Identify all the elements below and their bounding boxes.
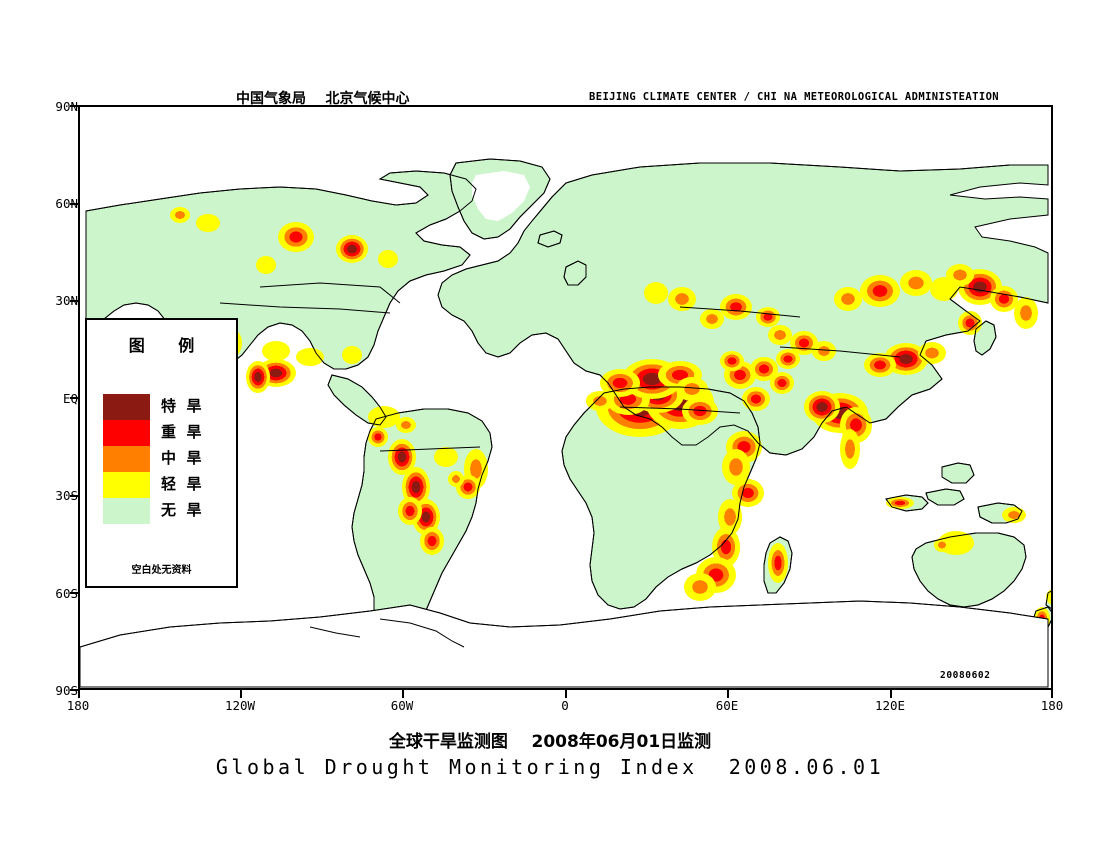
- x-tick-60w: 60W: [367, 698, 437, 713]
- x-tickmark-180e: [1051, 690, 1053, 698]
- agency-header-english: BEIJING CLIMATE CENTER / CHI NA METEOROL…: [589, 91, 999, 103]
- figure-title-chinese: 全球干旱监测图 2008年06月01日监测: [0, 727, 1100, 752]
- x-tick-120w: 120W: [205, 698, 275, 713]
- figure-title-english: Global Drought Monitoring Index 2008.06.…: [0, 755, 1100, 779]
- x-tickmark-120w: [240, 690, 242, 698]
- legend-no-data-note: 空白处无资料: [87, 561, 236, 576]
- legend-swatch-mild-drought: [103, 472, 150, 498]
- x-tick-0: 0: [530, 698, 600, 713]
- y-tickmark-90n: [70, 105, 78, 107]
- y-axis: 90N 60N 30N EQ 30S 60S 90S: [0, 0, 78, 850]
- legend-label-extreme-drought: 特 旱: [161, 395, 201, 416]
- x-tick-60e: 60E: [692, 698, 762, 713]
- x-tickmark-180w: [78, 690, 80, 698]
- y-tickmark-30s: [70, 495, 78, 497]
- legend-label-no-drought: 无 旱: [161, 499, 201, 520]
- y-tickmark-eq: [70, 397, 78, 399]
- legend-label-mild-drought: 轻 旱: [161, 473, 201, 494]
- legend-swatch-no-drought: [103, 498, 150, 524]
- drought-map-figure: 中国气象局 北京气候中心 BEIJING CLIMATE CENTER / CH…: [0, 0, 1100, 850]
- x-tickmark-0: [565, 690, 567, 698]
- legend-swatch-severe-drought: [103, 420, 150, 446]
- legend-box: 图 例 特 旱 重 旱 中 旱 轻 旱 无 旱 空白处无资料: [85, 318, 238, 588]
- legend-label-severe-drought: 重 旱: [161, 421, 201, 442]
- legend-swatch-extreme-drought: [103, 394, 150, 420]
- legend-row-severe-drought: 重 旱: [103, 420, 225, 446]
- y-tickmark-90s: [70, 689, 78, 691]
- legend-row-mild-drought: 轻 旱: [103, 472, 225, 498]
- x-tickmark-120e: [890, 690, 892, 698]
- legend-row-extreme-drought: 特 旱: [103, 394, 225, 420]
- legend-row-moderate-drought: 中 旱: [103, 446, 225, 472]
- y-tickmark-60s: [70, 592, 78, 594]
- x-axis: 180 120W 60W 0 60E 120E 180: [0, 698, 1100, 722]
- x-tickmark-60w: [402, 690, 404, 698]
- x-tickmark-60e: [727, 690, 729, 698]
- x-tick-180w: 180: [43, 698, 113, 713]
- legend-title: 图 例: [87, 332, 236, 356]
- generation-datestamp: 20080602: [940, 670, 991, 681]
- legend-label-moderate-drought: 中 旱: [161, 447, 201, 468]
- y-tickmark-60n: [70, 203, 78, 205]
- legend-swatch-moderate-drought: [103, 446, 150, 472]
- x-tick-120e: 120E: [855, 698, 925, 713]
- x-tick-180e: 180: [1017, 698, 1087, 713]
- y-tickmark-30n: [70, 300, 78, 302]
- legend-row-no-drought: 无 旱: [103, 498, 225, 524]
